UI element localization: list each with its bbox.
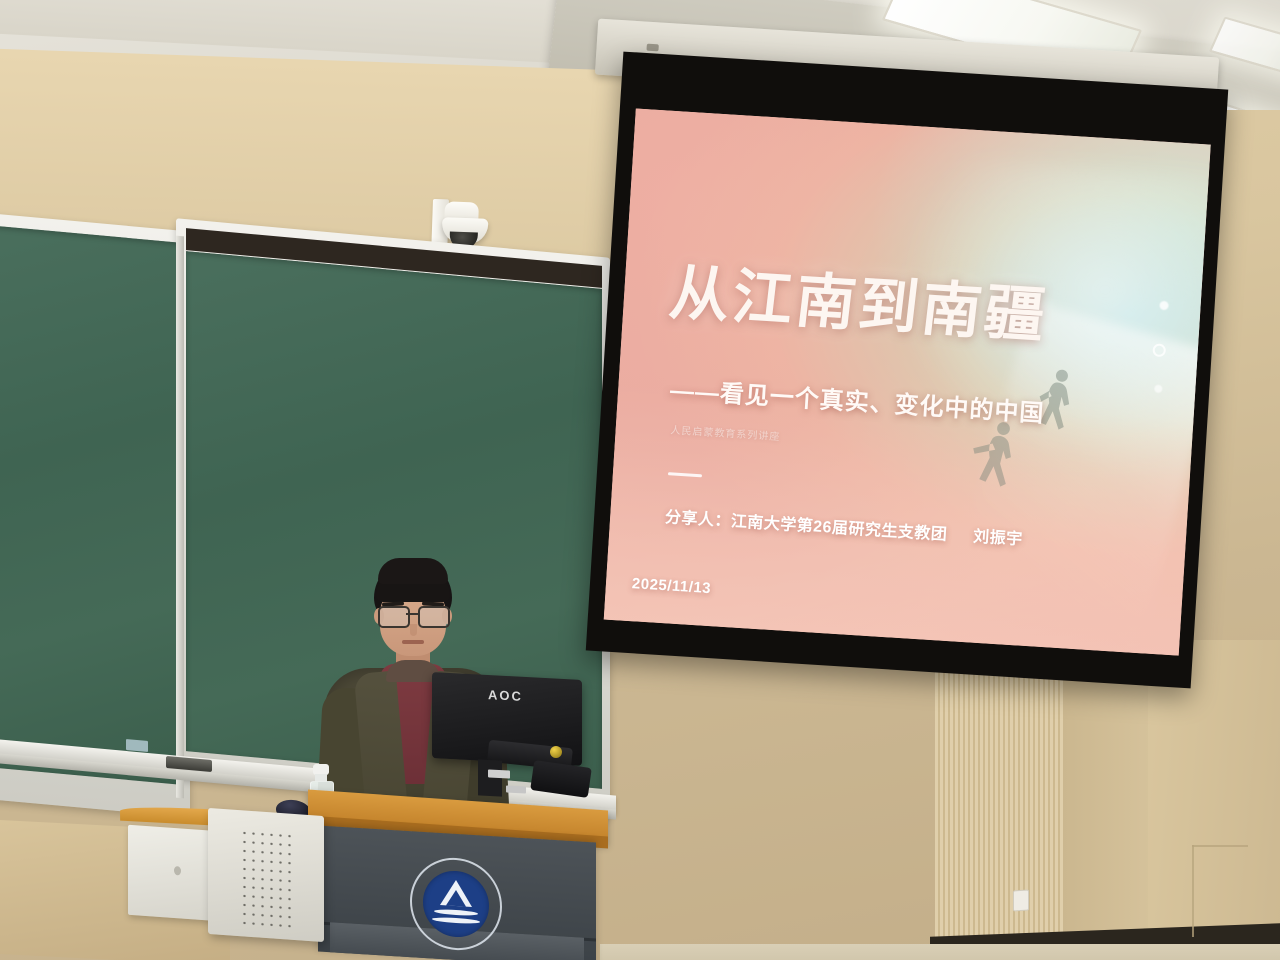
- emblem-triangle-inner: [446, 889, 466, 906]
- mouth: [402, 640, 424, 644]
- housing-label: [646, 44, 658, 52]
- blackboard-slide-rail[interactable]: [176, 236, 184, 799]
- speaker-grille: [240, 828, 292, 928]
- computer-monitor[interactable]: AOC: [432, 676, 590, 798]
- wall-seam: [1192, 845, 1194, 937]
- hair-top: [378, 558, 448, 584]
- wall-far-right: [1148, 640, 1280, 960]
- monitor-base: [530, 760, 592, 798]
- glasses-icon: [376, 606, 450, 626]
- projection-screen: 从江南到南疆 ——看见一个真实、变化中的中国 人民启蒙教育系列讲座 分享人：江南…: [586, 52, 1228, 689]
- blackboard-panel-left: [0, 225, 182, 785]
- glasses-lens-left: [378, 606, 410, 628]
- wall-corner-column: [1063, 644, 1151, 960]
- blackboard-sticker: [126, 739, 148, 752]
- university-emblem: [410, 855, 502, 953]
- monitor-mount-knob[interactable]: [550, 746, 562, 758]
- wall-switch-plate[interactable]: [1013, 890, 1029, 912]
- podium-cabinet[interactable]: [128, 825, 220, 921]
- runner-silhouette-icon: [967, 417, 1030, 530]
- floor: [600, 944, 1280, 960]
- presenter-prefix: 分享人：: [664, 509, 731, 530]
- cabinet-lock-icon[interactable]: [174, 866, 181, 875]
- glasses-lens-right: [418, 606, 450, 628]
- monitor-brand-label: AOC: [488, 687, 523, 704]
- presenter-name: 刘振宇: [973, 528, 1023, 548]
- slide-surface: 从江南到南疆 ——看见一个真实、变化中的中国 人民启蒙教育系列讲座 分享人：江南…: [604, 108, 1211, 655]
- slide-dot: [1154, 385, 1162, 393]
- podium-speaker: [208, 808, 324, 942]
- nose: [410, 624, 417, 636]
- monitor-port-label: [488, 769, 510, 778]
- glasses-bridge: [406, 613, 418, 615]
- wall-seam: [1192, 845, 1248, 847]
- ribbed-acoustic-panel: [935, 657, 1063, 960]
- monitor-port-label: [506, 785, 526, 793]
- lecture-hall-photo: 从江南到南疆 ——看见一个真实、变化中的中国 人民启蒙教育系列讲座 分享人：江南…: [0, 0, 1280, 960]
